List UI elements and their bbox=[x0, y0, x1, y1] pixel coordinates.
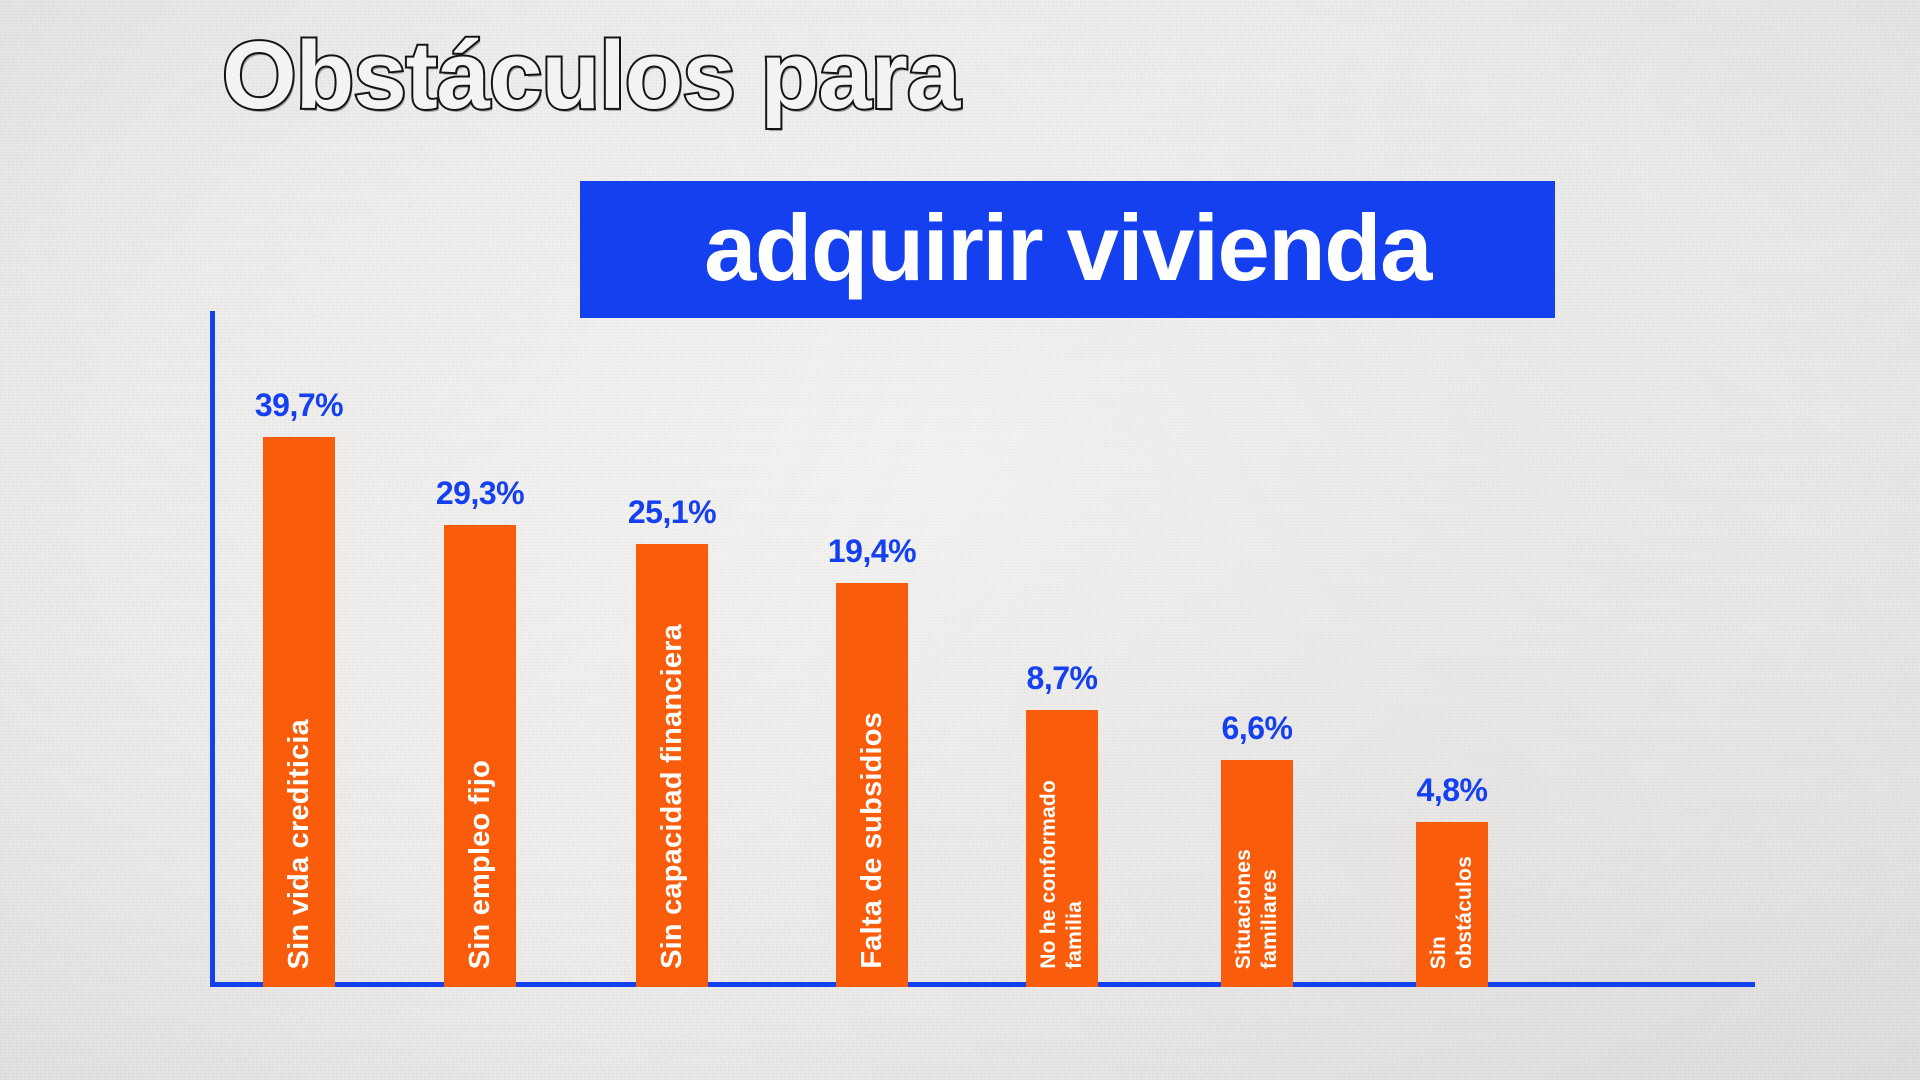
bar-category-label: Sinobstáculos bbox=[1416, 856, 1488, 969]
bar[interactable]: Sin empleo fijo bbox=[444, 525, 516, 987]
bar-category-label-line: Sin empleo fijo bbox=[464, 760, 497, 969]
bar-category-label-line: Situaciones bbox=[1232, 849, 1256, 969]
bar-category-label: Falta de subsidios bbox=[836, 712, 908, 969]
bar-category-label-line: Sin vida crediticia bbox=[283, 719, 316, 969]
bar-category-label-line: No he conformado bbox=[1037, 780, 1061, 969]
bar-group: 25,1%Sin capacidad financiera bbox=[636, 544, 708, 987]
bar-category-label-line: Sin bbox=[1427, 936, 1451, 969]
bar-chart: 39,7%Sin vida crediticia29,3%Sin empleo … bbox=[0, 0, 1920, 1080]
plot-area: 39,7%Sin vida crediticia29,3%Sin empleo … bbox=[0, 0, 1920, 1080]
bar-group: 19,4%Falta de subsidios bbox=[836, 583, 908, 987]
bar-category-label: Sin capacidad financiera bbox=[636, 624, 708, 969]
bar-category-label-line: familiares bbox=[1258, 869, 1282, 969]
bar-category-label-line: familia bbox=[1063, 901, 1087, 969]
poster-canvas: Obstáculos para adquirir vivienda 39,7%S… bbox=[0, 0, 1920, 1080]
bar[interactable]: Sinobstáculos bbox=[1416, 822, 1488, 987]
bar-group: 29,3%Sin empleo fijo bbox=[444, 525, 516, 987]
bar-group: 4,8%Sinobstáculos bbox=[1416, 822, 1488, 987]
bar[interactable]: Sin vida crediticia bbox=[263, 437, 335, 987]
bar-category-label: Sin vida crediticia bbox=[263, 719, 335, 969]
bar-category-label-line: Falta de subsidios bbox=[856, 712, 889, 969]
bar-group: 8,7%No he conformadofamilia bbox=[1026, 710, 1098, 987]
bar-category-label: No he conformadofamilia bbox=[1026, 780, 1098, 969]
bar-category-label-line: obstáculos bbox=[1453, 856, 1477, 969]
bar-category-label: Sin empleo fijo bbox=[444, 760, 516, 969]
bar[interactable]: No he conformadofamilia bbox=[1026, 710, 1098, 987]
bar[interactable]: Situacionesfamiliares bbox=[1221, 760, 1293, 987]
bar-value-label: 4,8% bbox=[1417, 772, 1488, 809]
bar-group: 39,7%Sin vida crediticia bbox=[263, 437, 335, 987]
bar-category-label-line: Sin capacidad financiera bbox=[656, 624, 689, 969]
bar[interactable]: Sin capacidad financiera bbox=[636, 544, 708, 987]
bar-value-label: 6,6% bbox=[1222, 710, 1293, 747]
bar-value-label: 29,3% bbox=[436, 475, 524, 512]
bar-value-label: 25,1% bbox=[628, 494, 716, 531]
bar-group: 6,6%Situacionesfamiliares bbox=[1221, 760, 1293, 987]
bar-category-label: Situacionesfamiliares bbox=[1221, 849, 1293, 969]
bar-value-label: 39,7% bbox=[255, 387, 343, 424]
bar[interactable]: Falta de subsidios bbox=[836, 583, 908, 987]
bar-value-label: 19,4% bbox=[828, 533, 916, 570]
bar-value-label: 8,7% bbox=[1027, 660, 1098, 697]
